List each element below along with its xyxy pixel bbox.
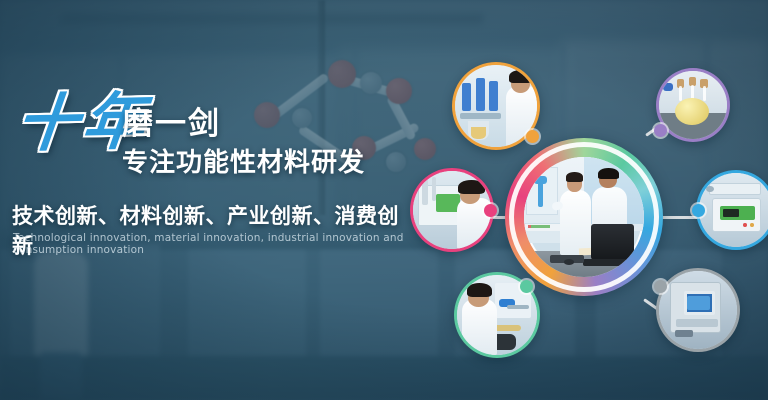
satellite-flask[interactable] [656,68,730,142]
node-dot-top-right [654,124,667,137]
headline-copy-block: 十年 磨一剑 专注功能性材料研发 技术创新、材料创新、产业创新、消费创新 Tec… [0,96,420,182]
headline-line-2: 专注功能性材料研发 [122,142,365,179]
headline-line-1: 磨一剑 [122,98,221,143]
satellite-reactor[interactable] [452,62,540,150]
satellite-flask-photo [659,71,727,139]
satellite-coating-machine[interactable] [696,170,768,250]
node-dot-top-left [526,130,539,143]
node-dot-right [692,204,705,217]
headline-row: 十年 磨一剑 专注功能性材料研发 [0,96,420,182]
satellite-precision-instrument[interactable] [410,168,494,252]
central-hub[interactable] [505,138,663,296]
satellite-analyzer[interactable] [656,268,740,352]
node-dot-bottom-right [654,280,667,293]
node-dot-bottom-left [520,280,533,293]
satellite-coating-machine-photo [699,173,768,247]
central-lab-photo [524,157,644,277]
satellite-precision-instrument-photo [413,171,491,249]
circle-composition [400,40,768,400]
satellite-reactor-photo [455,65,537,147]
company-hero-banner: 十年 磨一剑 专注功能性材料研发 技术创新、材料创新、产业创新、消费创新 Tec… [0,0,768,400]
satellite-sample-prep[interactable] [454,272,540,358]
satellite-analyzer-photo [659,271,737,349]
node-dot-left [484,204,497,217]
tagline-english: Technological innovation, material innov… [13,232,420,256]
